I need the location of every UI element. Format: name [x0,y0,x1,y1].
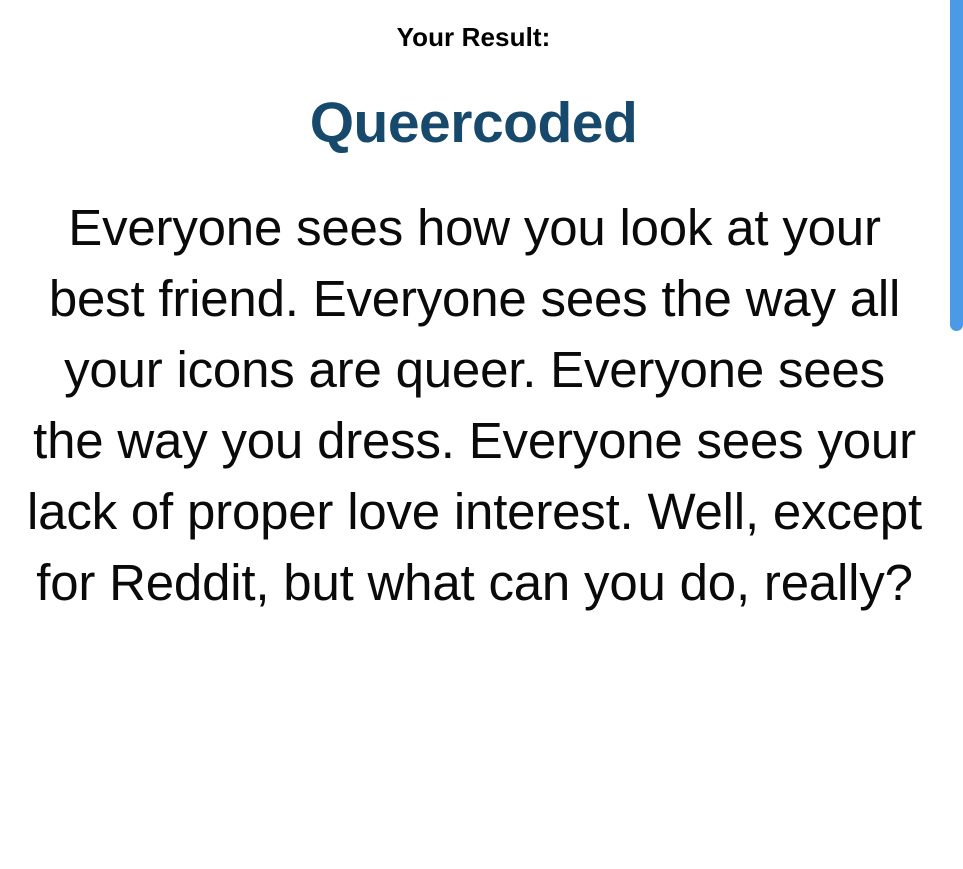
result-label: Your Result: [0,0,947,56]
vertical-scrollbar-track[interactable] [950,0,963,869]
quiz-result-page: Your Result: Queercoded Everyone sees ho… [0,0,963,869]
result-content-column: Your Result: Queercoded Everyone sees ho… [0,0,947,869]
result-title: Queercoded [0,56,947,154]
result-description: Everyone sees how you look at your best … [0,154,947,618]
vertical-scrollbar-thumb[interactable] [950,0,963,331]
